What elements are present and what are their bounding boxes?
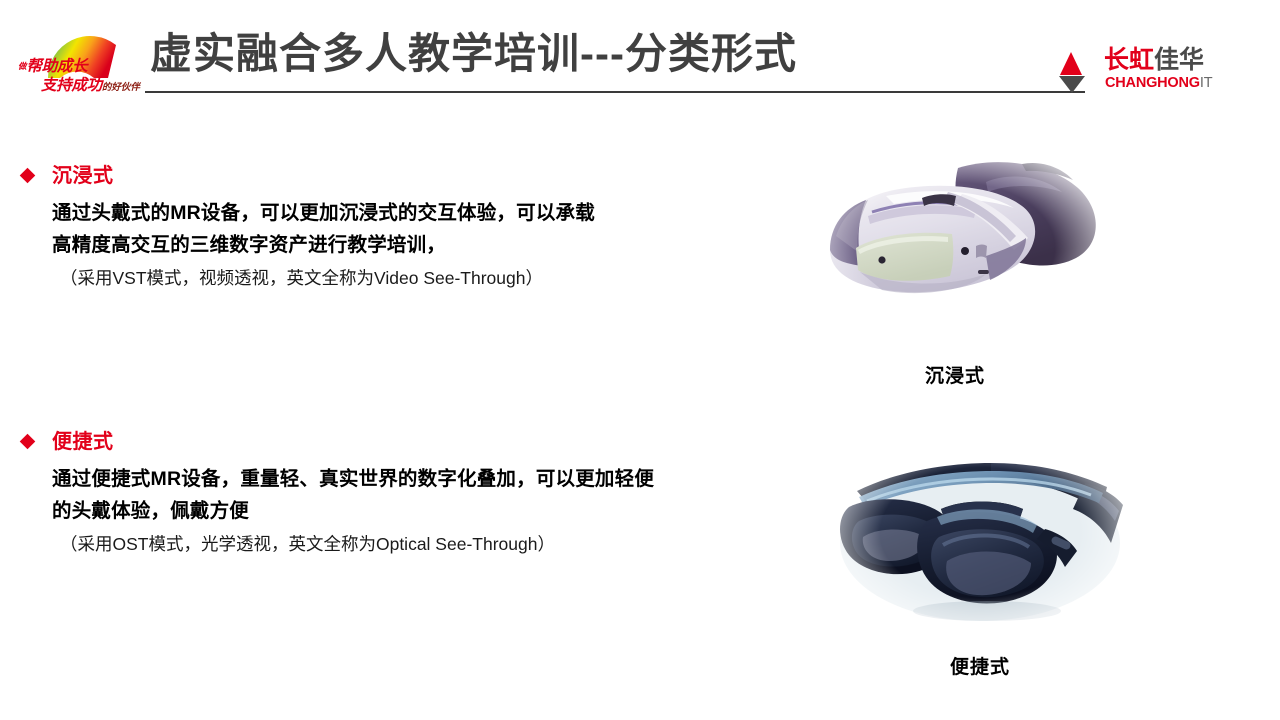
header-divider-line (145, 91, 1085, 93)
company-logo-cn-gray: 佳华 (1154, 46, 1204, 74)
brand-slogan-prefix: 做 (18, 61, 27, 71)
section-immersive-body-line-2: 高精度高交互的三维数字资产进行教学培训， (52, 230, 800, 262)
company-logo-cn: 长虹佳华 (1104, 48, 1204, 73)
section-portable-heading: 便捷式 (0, 430, 800, 455)
brand-logo: 做帮助成长 支持成功的好伙伴 (16, 33, 148, 99)
section-portable-note: （采用OST模式，光学透视，英文全称为Optical See-Through） (0, 531, 800, 557)
section-immersive-note: （采用VST模式，视频透视，英文全称为Video See-Through） (0, 265, 800, 291)
brand-slogan-main-2: 支持成功 (41, 77, 102, 94)
company-logo-en: CHANGHONGIT (1105, 76, 1212, 91)
company-logo: 长虹佳华 CHANGHONGIT (1104, 48, 1254, 98)
company-logo-en-gray: IT (1200, 75, 1213, 91)
figure-portable-caption: 便捷式 (815, 652, 1145, 679)
diamond-bullet-icon (20, 168, 36, 184)
section-portable-body-line-2: 的头戴体验，佩戴方便 (52, 496, 800, 528)
company-logo-en-red: CHANGHONG (1105, 75, 1200, 91)
section-portable-heading-text: 便捷式 (52, 431, 114, 453)
diamond-bullet-icon (20, 434, 36, 450)
company-logo-cn-red: 长虹 (1104, 46, 1154, 74)
triangle-up-icon (1060, 52, 1082, 75)
page-title: 虚实融合多人教学培训---分类形式 (150, 29, 797, 79)
slide-header: 做帮助成长 支持成功的好伙伴 虚实融合多人教学培训---分类形式 长虹佳华 CH… (0, 0, 1280, 115)
ar-glasses-image (815, 425, 1145, 640)
figure-immersive: 沉浸式 (790, 140, 1120, 388)
section-immersive-body-line-1: 通过头戴式的MR设备，可以更加沉浸式的交互体验，可以承载 (52, 198, 800, 230)
figure-portable: 便捷式 (815, 425, 1145, 679)
section-immersive-body: 通过头戴式的MR设备，可以更加沉浸式的交互体验，可以承载 高精度高交互的三维数字… (0, 198, 800, 261)
section-immersive: 沉浸式 通过头戴式的MR设备，可以更加沉浸式的交互体验，可以承载 高精度高交互的… (0, 164, 800, 291)
brand-slogan-suffix: 的好伙伴 (102, 82, 140, 93)
brand-slogan-line-1: 做帮助成长 (18, 59, 87, 75)
section-immersive-heading-text: 沉浸式 (52, 165, 114, 187)
section-immersive-heading: 沉浸式 (0, 164, 800, 189)
section-portable-body-line-1: 通过便捷式MR设备，重量轻、真实世界的数字化叠加，可以更加轻便 (52, 464, 800, 496)
figure-immersive-caption: 沉浸式 (790, 361, 1120, 388)
vr-headset-image (790, 140, 1120, 355)
brand-slogan-line-2: 支持成功的好伙伴 (41, 78, 140, 94)
brand-slogan-main-1: 帮助成长 (27, 58, 88, 75)
triangle-down-icon (1059, 76, 1085, 93)
section-portable: 便捷式 通过便捷式MR设备，重量轻、真实世界的数字化叠加，可以更加轻便 的头戴体… (0, 430, 800, 557)
section-portable-body: 通过便捷式MR设备，重量轻、真实世界的数字化叠加，可以更加轻便 的头戴体验，佩戴… (0, 464, 800, 527)
